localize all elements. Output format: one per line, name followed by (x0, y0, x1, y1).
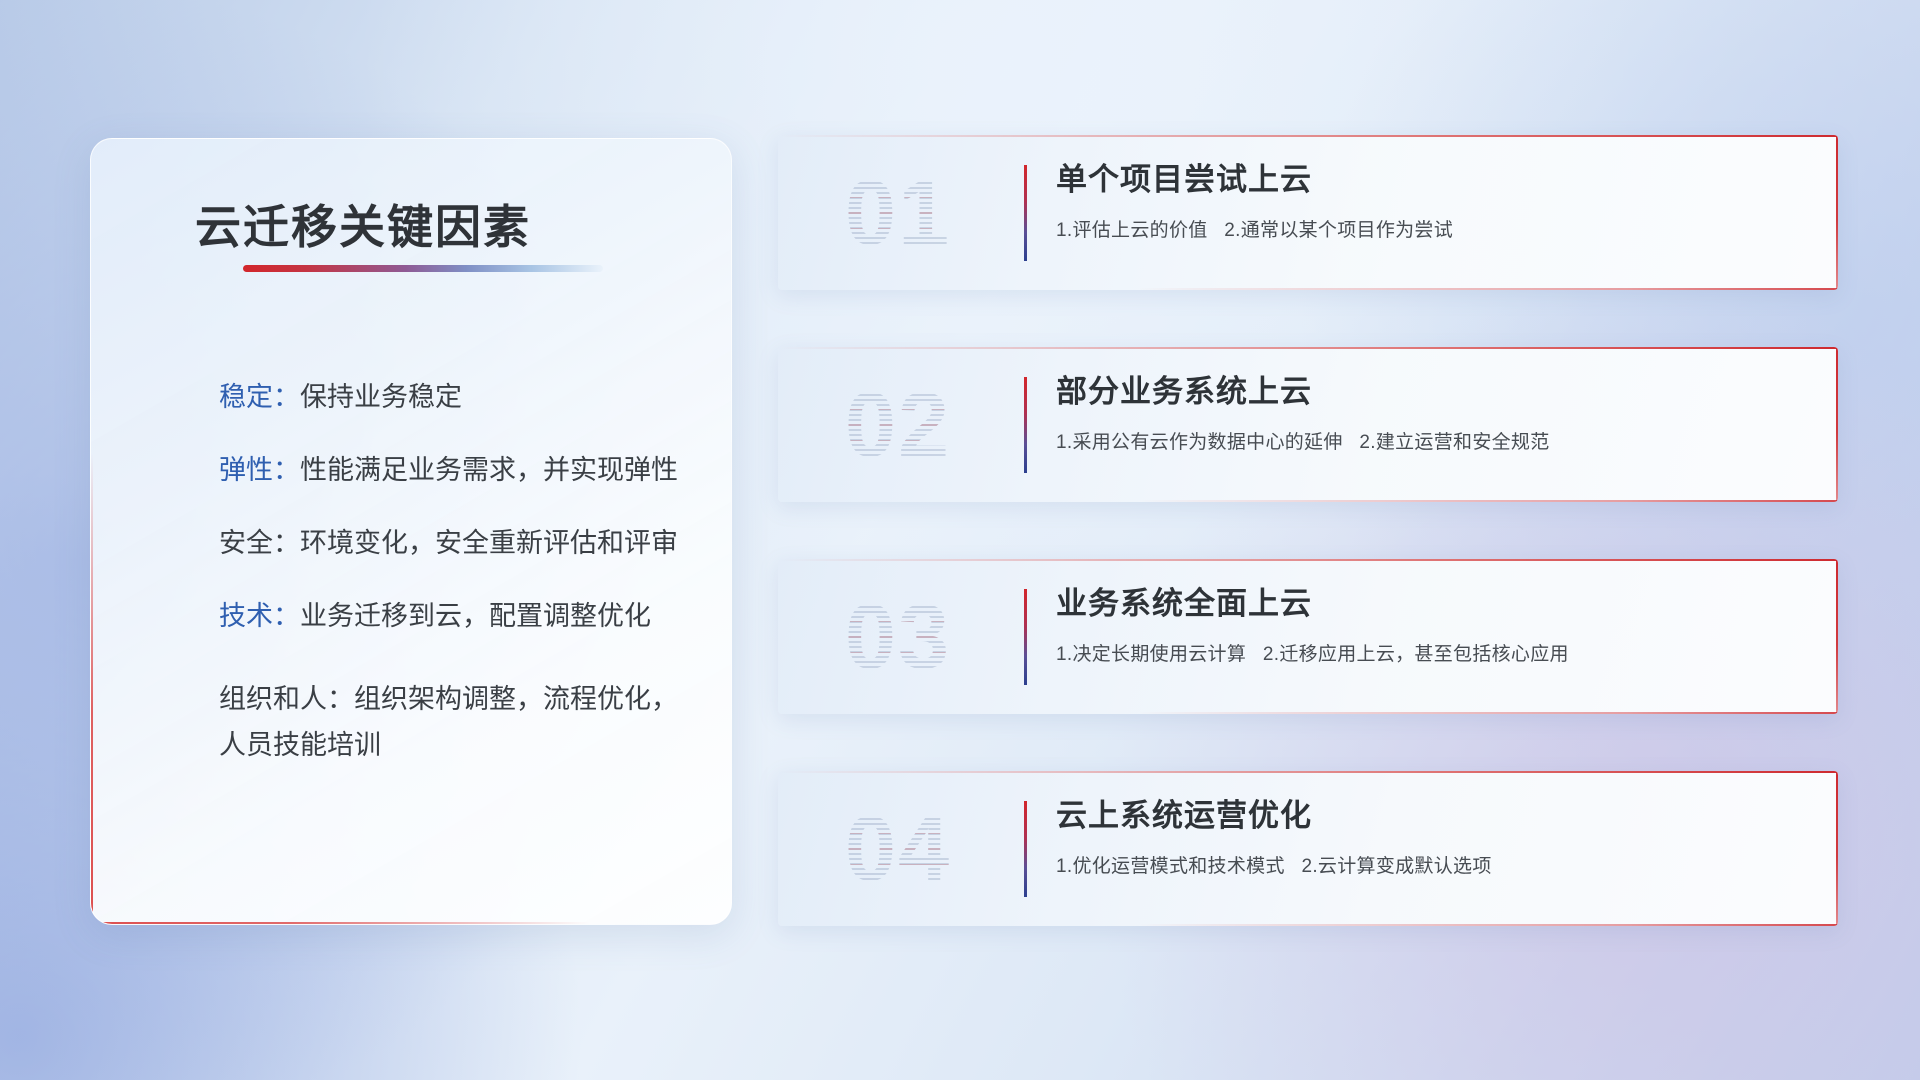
step-number-watermark: 01 01 (808, 157, 988, 269)
card-divider (1024, 589, 1027, 685)
stage-card[interactable]: 04 04 云上系统运营优化 1.优化运营模式和技术模式 2.云计算变成默认选项 (778, 771, 1838, 926)
card-body: 云上系统运营优化 1.优化运营模式和技术模式 2.云计算变成默认选项 (1056, 797, 1798, 878)
key-factors-panel: 云迁移关键因素 稳定：保持业务稳定 弹性：性能满足业务需求，并实现弹性 安全：环… (90, 138, 732, 925)
card-body: 单个项目尝试上云 1.评估上云的价值 2.通常以某个项目作为尝试 (1056, 161, 1798, 242)
list-item-text: 性能满足业务需求，并实现弹性 (300, 455, 678, 485)
card-title: 单个项目尝试上云 (1056, 161, 1798, 199)
stage-card[interactable]: 03 03 业务系统全面上云 1.决定长期使用云计算 2.迁移应用上云，甚至包括… (778, 559, 1838, 714)
key-factors-list: 稳定：保持业务稳定 弹性：性能满足业务需求，并实现弹性 安全：环境变化，安全重新… (219, 384, 687, 815)
step-number-watermark: 03 03 (808, 581, 988, 693)
list-item: 弹性：性能满足业务需求，并实现弹性 (219, 457, 687, 484)
card-right-accent (1836, 771, 1838, 926)
page-title: 云迁移关键因素 (195, 191, 531, 257)
list-item-text: 环境变化，安全重新评估和评审 (300, 528, 678, 558)
stage-cards-list: 01 01 单个项目尝试上云 1.评估上云的价值 2.通常以某个项目作为尝试 0… (778, 135, 1838, 983)
card-divider (1024, 801, 1027, 897)
stage-card[interactable]: 01 01 单个项目尝试上云 1.评估上云的价值 2.通常以某个项目作为尝试 (778, 135, 1838, 290)
list-item-label: 技术： (219, 601, 300, 631)
list-item: 安全：环境变化，安全重新评估和评审 (219, 530, 687, 557)
card-top-accent (778, 771, 1838, 773)
card-subtitle: 1.采用公有云作为数据中心的延伸 2.建立运营和安全规范 (1056, 427, 1798, 454)
card-bottom-accent (1138, 924, 1838, 926)
title-underline-rule (243, 265, 603, 272)
card-right-accent (1836, 347, 1838, 502)
card-body: 部分业务系统上云 1.采用公有云作为数据中心的延伸 2.建立运营和安全规范 (1056, 373, 1798, 454)
list-item-label: 安全： (219, 528, 300, 558)
card-bottom-accent (1138, 712, 1838, 714)
card-divider (1024, 377, 1027, 473)
step-number-tint: 01 (808, 157, 988, 269)
list-item-text: 保持业务稳定 (300, 382, 462, 412)
card-subtitle: 1.决定长期使用云计算 2.迁移应用上云，甚至包括核心应用 (1056, 639, 1798, 666)
list-item-label: 组织和人： (219, 684, 354, 714)
card-subtitle: 1.优化运营模式和技术模式 2.云计算变成默认选项 (1056, 851, 1798, 878)
step-number-tint: 03 (808, 581, 988, 693)
card-top-accent (778, 135, 1838, 137)
step-number-tint: 02 (808, 369, 988, 481)
card-bottom-accent (1138, 500, 1838, 502)
list-item: 组织和人：组织架构调整，流程优化，人员技能培训 (219, 676, 687, 769)
step-number-watermark: 02 02 (808, 369, 988, 481)
card-title: 云上系统运营优化 (1056, 797, 1798, 835)
list-item-text: 业务迁移到云，配置调整优化 (300, 601, 651, 631)
list-item: 技术：业务迁移到云，配置调整优化 (219, 603, 687, 630)
card-subtitle: 1.评估上云的价值 2.通常以某个项目作为尝试 (1056, 215, 1798, 242)
card-right-accent (1836, 135, 1838, 290)
list-item-label: 稳定： (219, 382, 300, 412)
card-bottom-accent (1138, 288, 1838, 290)
card-top-accent (778, 347, 1838, 349)
list-item: 稳定：保持业务稳定 (219, 384, 687, 411)
card-divider (1024, 165, 1027, 261)
card-top-accent (778, 559, 1838, 561)
step-number-watermark: 04 04 (808, 793, 988, 905)
slide-canvas: 云迁移关键因素 稳定：保持业务稳定 弹性：性能满足业务需求，并实现弹性 安全：环… (0, 0, 1920, 1080)
card-body: 业务系统全面上云 1.决定长期使用云计算 2.迁移应用上云，甚至包括核心应用 (1056, 585, 1798, 666)
stage-card[interactable]: 02 02 部分业务系统上云 1.采用公有云作为数据中心的延伸 2.建立运营和安… (778, 347, 1838, 502)
step-number-tint: 04 (808, 793, 988, 905)
card-right-accent (1836, 559, 1838, 714)
card-title: 业务系统全面上云 (1056, 585, 1798, 623)
list-item-label: 弹性： (219, 455, 300, 485)
card-title: 部分业务系统上云 (1056, 373, 1798, 411)
